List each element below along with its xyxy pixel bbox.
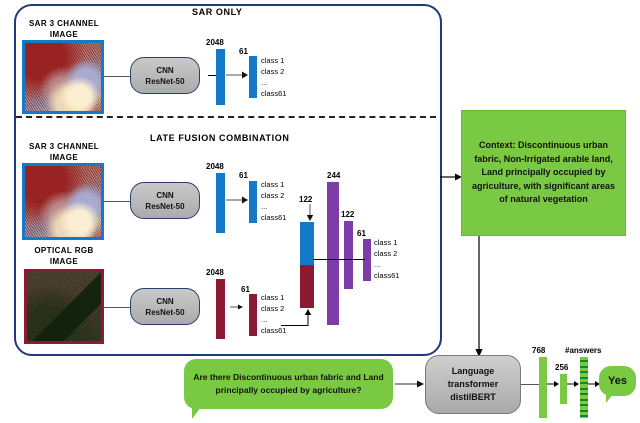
sar-only-image-label-line2: IMAGE (16, 29, 112, 40)
connector-fusion-optical-image-to-cnn (104, 307, 130, 308)
arrow-fusion-optical-feature-to-class (230, 302, 244, 312)
sar-only-class-bar (249, 56, 257, 98)
fusion-optical-thumbnail (24, 269, 104, 344)
class-item: class 1 (261, 55, 286, 66)
class-item: ... (261, 314, 286, 325)
fusion-optical-feature-bar (216, 279, 225, 339)
fusion-hidden2-dim-label: 122 (341, 210, 354, 219)
class-item: class 2 (261, 190, 286, 201)
question-bubble-tail (192, 407, 201, 419)
sar-only-class-list: class 1 class 2 ... class61 (261, 55, 286, 99)
sar-only-class-dim-label: 61 (239, 47, 248, 56)
question-text: Are there Discontinuous urban fabric and… (192, 371, 385, 397)
class-item: class 2 (374, 248, 399, 259)
arrow-optical-into-concat (303, 308, 313, 326)
connector-optical-class-to-concat (281, 325, 308, 326)
answers-label: #answers (565, 346, 601, 355)
language-model-line2: transformer (448, 378, 499, 391)
class-item: class 1 (374, 237, 399, 248)
fusion-sar-class-bar (249, 181, 257, 223)
class-item: ... (261, 77, 286, 88)
hidden-bar (560, 374, 567, 404)
class-item: ... (261, 201, 286, 212)
answer-text: Yes (608, 375, 627, 387)
cnn-box-sar-only: CNN ResNet-50 (130, 57, 200, 94)
fusion-output-dim-label: 61 (357, 229, 366, 238)
cnn-label-line1: CNN (156, 190, 173, 201)
class-item: class61 (261, 325, 286, 336)
cnn-label-line1: CNN (156, 296, 173, 307)
fusion-sar-feature-dim-label: 2048 (206, 162, 224, 171)
fusion-optical-image-label-line1: OPTICAL RGB (16, 245, 112, 256)
fusion-optical-class-bar (249, 294, 257, 336)
fusion-sar-image-label-line2: IMAGE (16, 152, 112, 163)
arrow-fusion-sar-feature-to-class (226, 195, 248, 205)
fusion-hidden2-bar (344, 221, 353, 289)
arrow-sar-only-feature-to-class (226, 70, 248, 80)
language-transformer-box: Language transformer distilBERT (425, 355, 521, 414)
arrow-sar-into-concat (305, 204, 315, 222)
sar-only-feature-dim-label: 2048 (206, 38, 224, 47)
class-item: class61 (261, 88, 286, 99)
context-box: Context: Discontinuous urban fabric, Non… (461, 110, 626, 236)
class-item: class 1 (261, 292, 286, 303)
fusion-sar-image-label-line1: SAR 3 CHANNEL (16, 141, 112, 152)
fusion-hidden1-dim-label: 244 (327, 171, 340, 180)
fusion-hidden1-bar (327, 182, 339, 325)
fusion-optical-class-list: class 1 class 2 ... class61 (261, 292, 286, 336)
answer-bubble-tail (606, 394, 613, 403)
context-text: Context: Discontinuous urban fabric, Non… (468, 139, 619, 207)
arrow-embed-to-hidden (547, 379, 560, 389)
answer-bubble: Yes (599, 366, 636, 396)
class-item: class61 (374, 270, 399, 281)
connector-fusion-mlp (313, 259, 365, 260)
fusion-output-class-list: class 1 class 2 ... class61 (374, 237, 399, 281)
arrow-model-to-context (440, 172, 462, 182)
fusion-concat-dim-label: 122 (299, 195, 312, 204)
fusion-sar-feature-bar (216, 173, 225, 233)
cnn-label-line1: CNN (156, 65, 173, 76)
class-item: class 2 (261, 303, 286, 314)
sar-only-feature-bar (216, 49, 225, 105)
embed-dim-label: 768 (532, 346, 545, 355)
fusion-concat-bar-sar-part (300, 222, 314, 265)
fusion-sar-thumbnail (22, 163, 104, 240)
fusion-output-bar (363, 239, 371, 281)
answers-bar (580, 357, 588, 418)
cnn-box-fusion-optical: CNN ResNet-50 (130, 288, 200, 325)
fusion-sar-image-label: SAR 3 CHANNEL IMAGE (16, 141, 112, 163)
fusion-optical-image-label: OPTICAL RGB IMAGE (16, 245, 112, 267)
arrow-question-to-language-model (395, 379, 425, 389)
connector-lm-to-embed (521, 384, 540, 385)
fusion-optical-image-label-line2: IMAGE (16, 256, 112, 267)
cnn-box-fusion-sar: CNN ResNet-50 (130, 182, 200, 219)
connector-cnn-to-feature-bar (208, 75, 216, 76)
class-item: class61 (261, 212, 286, 223)
question-bubble: Are there Discontinuous urban fabric and… (184, 359, 393, 409)
fusion-concat-bar-optical-part (300, 265, 314, 308)
embed-bar (539, 357, 547, 418)
section-title-late-fusion: LATE FUSION COMBINATION (150, 133, 289, 143)
fusion-sar-class-dim-label: 61 (239, 171, 248, 180)
arrow-hidden-to-answers (567, 379, 580, 389)
diagram-canvas: SAR ONLY SAR 3 CHANNEL IMAGE CNN ResNet-… (0, 0, 640, 423)
cnn-label-line2: ResNet-50 (145, 76, 184, 87)
sar-only-image-label: SAR 3 CHANNEL IMAGE (16, 18, 112, 40)
fusion-optical-feature-dim-label: 2048 (206, 268, 224, 277)
class-item: class 2 (261, 66, 286, 77)
language-model-line3: distilBERT (450, 391, 496, 404)
arrow-context-to-language-model (473, 236, 485, 358)
connector-fusion-sar-image-to-cnn (104, 201, 130, 202)
section-divider (16, 116, 436, 118)
sar-only-thumbnail (22, 40, 104, 114)
hidden-dim-label: 256 (555, 363, 568, 372)
cnn-label-line2: ResNet-50 (145, 307, 184, 318)
fusion-optical-class-dim-label: 61 (241, 285, 250, 294)
cnn-label-line2: ResNet-50 (145, 201, 184, 212)
class-item: ... (374, 259, 399, 270)
section-title-sar-only: SAR ONLY (192, 7, 242, 17)
sar-only-image-label-line1: SAR 3 CHANNEL (16, 18, 112, 29)
language-model-line1: Language (452, 365, 495, 378)
class-item: class 1 (261, 179, 286, 190)
connector-sar-only-image-to-cnn (104, 76, 130, 77)
fusion-sar-class-list: class 1 class 2 ... class61 (261, 179, 286, 223)
